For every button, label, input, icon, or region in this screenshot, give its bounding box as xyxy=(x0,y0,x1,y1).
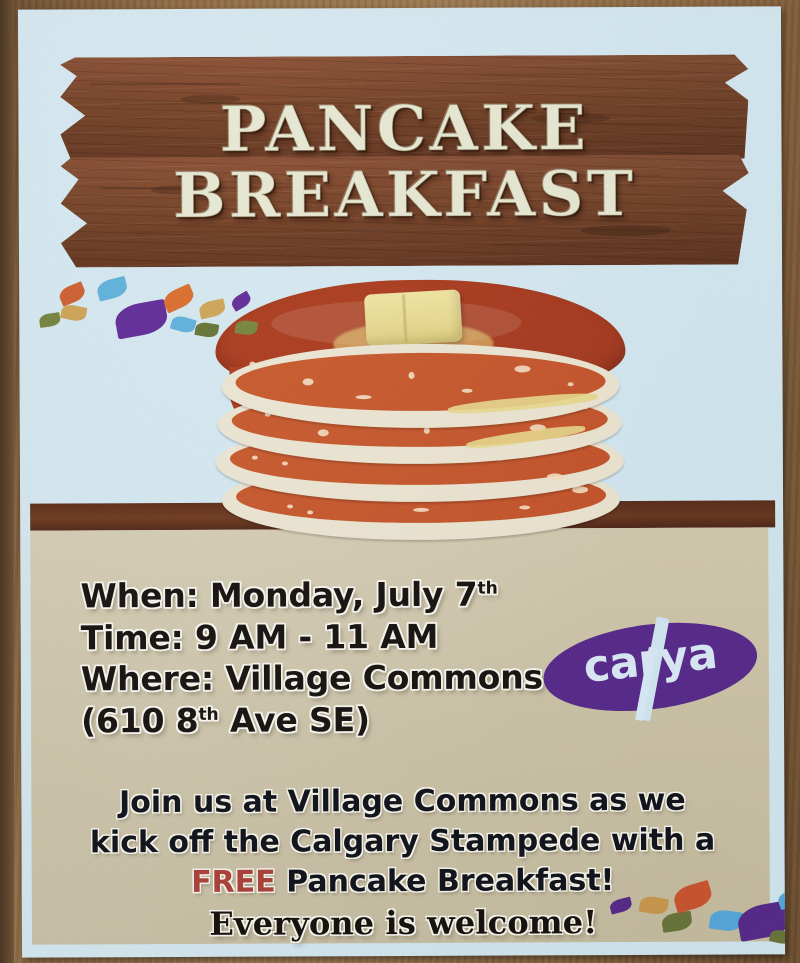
pancake-speck xyxy=(307,510,313,514)
event-details: When: Monday, July 7thTime: 9 AM - 11 AM… xyxy=(80,573,543,741)
sign-title-line-1: PANCAKE xyxy=(220,99,590,160)
sign-title-line-2: BREAKFAST xyxy=(173,164,637,226)
blurb-line-1: Join us at Village Commons as we xyxy=(77,781,727,824)
confetti-leaf xyxy=(170,314,197,335)
sign-text-group: PANCAKE BREAKFAST xyxy=(60,54,749,267)
pancake-speck xyxy=(514,365,530,372)
confetti-leaf xyxy=(57,281,88,307)
free-highlight: FREE xyxy=(191,864,276,899)
pancake-speck xyxy=(413,508,429,512)
pancake-speck xyxy=(462,389,473,393)
blurb-line-3: FREE Pancake Breakfast! xyxy=(78,860,728,903)
blurb-line-2: kick off the Calgary Stampede with a xyxy=(77,820,727,863)
confetti-leaf xyxy=(60,303,88,323)
pancake-stack-illustration xyxy=(215,279,626,549)
ordinal-suffix: th xyxy=(198,705,218,725)
pancake-speck xyxy=(282,461,288,465)
pancake-speck xyxy=(287,504,293,508)
pancake-speck xyxy=(303,378,314,385)
carya-logo: carya xyxy=(543,614,758,719)
confetti-leaf xyxy=(113,299,170,340)
pancake-speck xyxy=(356,395,372,399)
leaf-confetti-top-left xyxy=(35,277,265,354)
pancake-speck xyxy=(519,505,530,509)
event-blurb: Join us at Village Commons as we kick of… xyxy=(77,781,728,904)
pancake-speck xyxy=(409,372,415,379)
blurb-line-3-rest: Pancake Breakfast! xyxy=(276,863,615,899)
pancake-speck xyxy=(318,429,329,436)
detail-line-time: Time: 9 AM - 11 AM xyxy=(81,615,543,659)
detail-line-address: (610 8th Ave SE) xyxy=(81,698,543,742)
butter-pat xyxy=(364,289,463,346)
confetti-leaf xyxy=(234,319,258,336)
confetti-leaf xyxy=(229,291,253,312)
confetti-leaf xyxy=(198,298,227,319)
pancake-speck xyxy=(424,427,430,434)
pancake-speck xyxy=(547,473,563,480)
pancake-speck xyxy=(568,382,574,386)
confetti-leaf xyxy=(161,283,197,313)
detail-line-where: Where: Village Commons xyxy=(81,657,543,701)
confetti-leaf xyxy=(95,276,129,302)
pancake-speck xyxy=(252,456,258,460)
wooden-sign: PANCAKE BREAKFAST xyxy=(60,54,749,267)
backing-surface: PANCAKE BREAKFAST When: Monday, July 7th… xyxy=(0,0,800,963)
pancake-breakfast-poster: PANCAKE BREAKFAST When: Monday, July 7th… xyxy=(18,6,785,957)
pancake-speck xyxy=(249,362,255,366)
ordinal-suffix: th xyxy=(477,579,497,599)
welcome-message: Everyone is welcome! xyxy=(22,902,785,943)
detail-line-when: When: Monday, July 7th xyxy=(80,573,542,617)
confetti-leaf xyxy=(194,321,219,339)
confetti-leaf xyxy=(38,312,61,328)
